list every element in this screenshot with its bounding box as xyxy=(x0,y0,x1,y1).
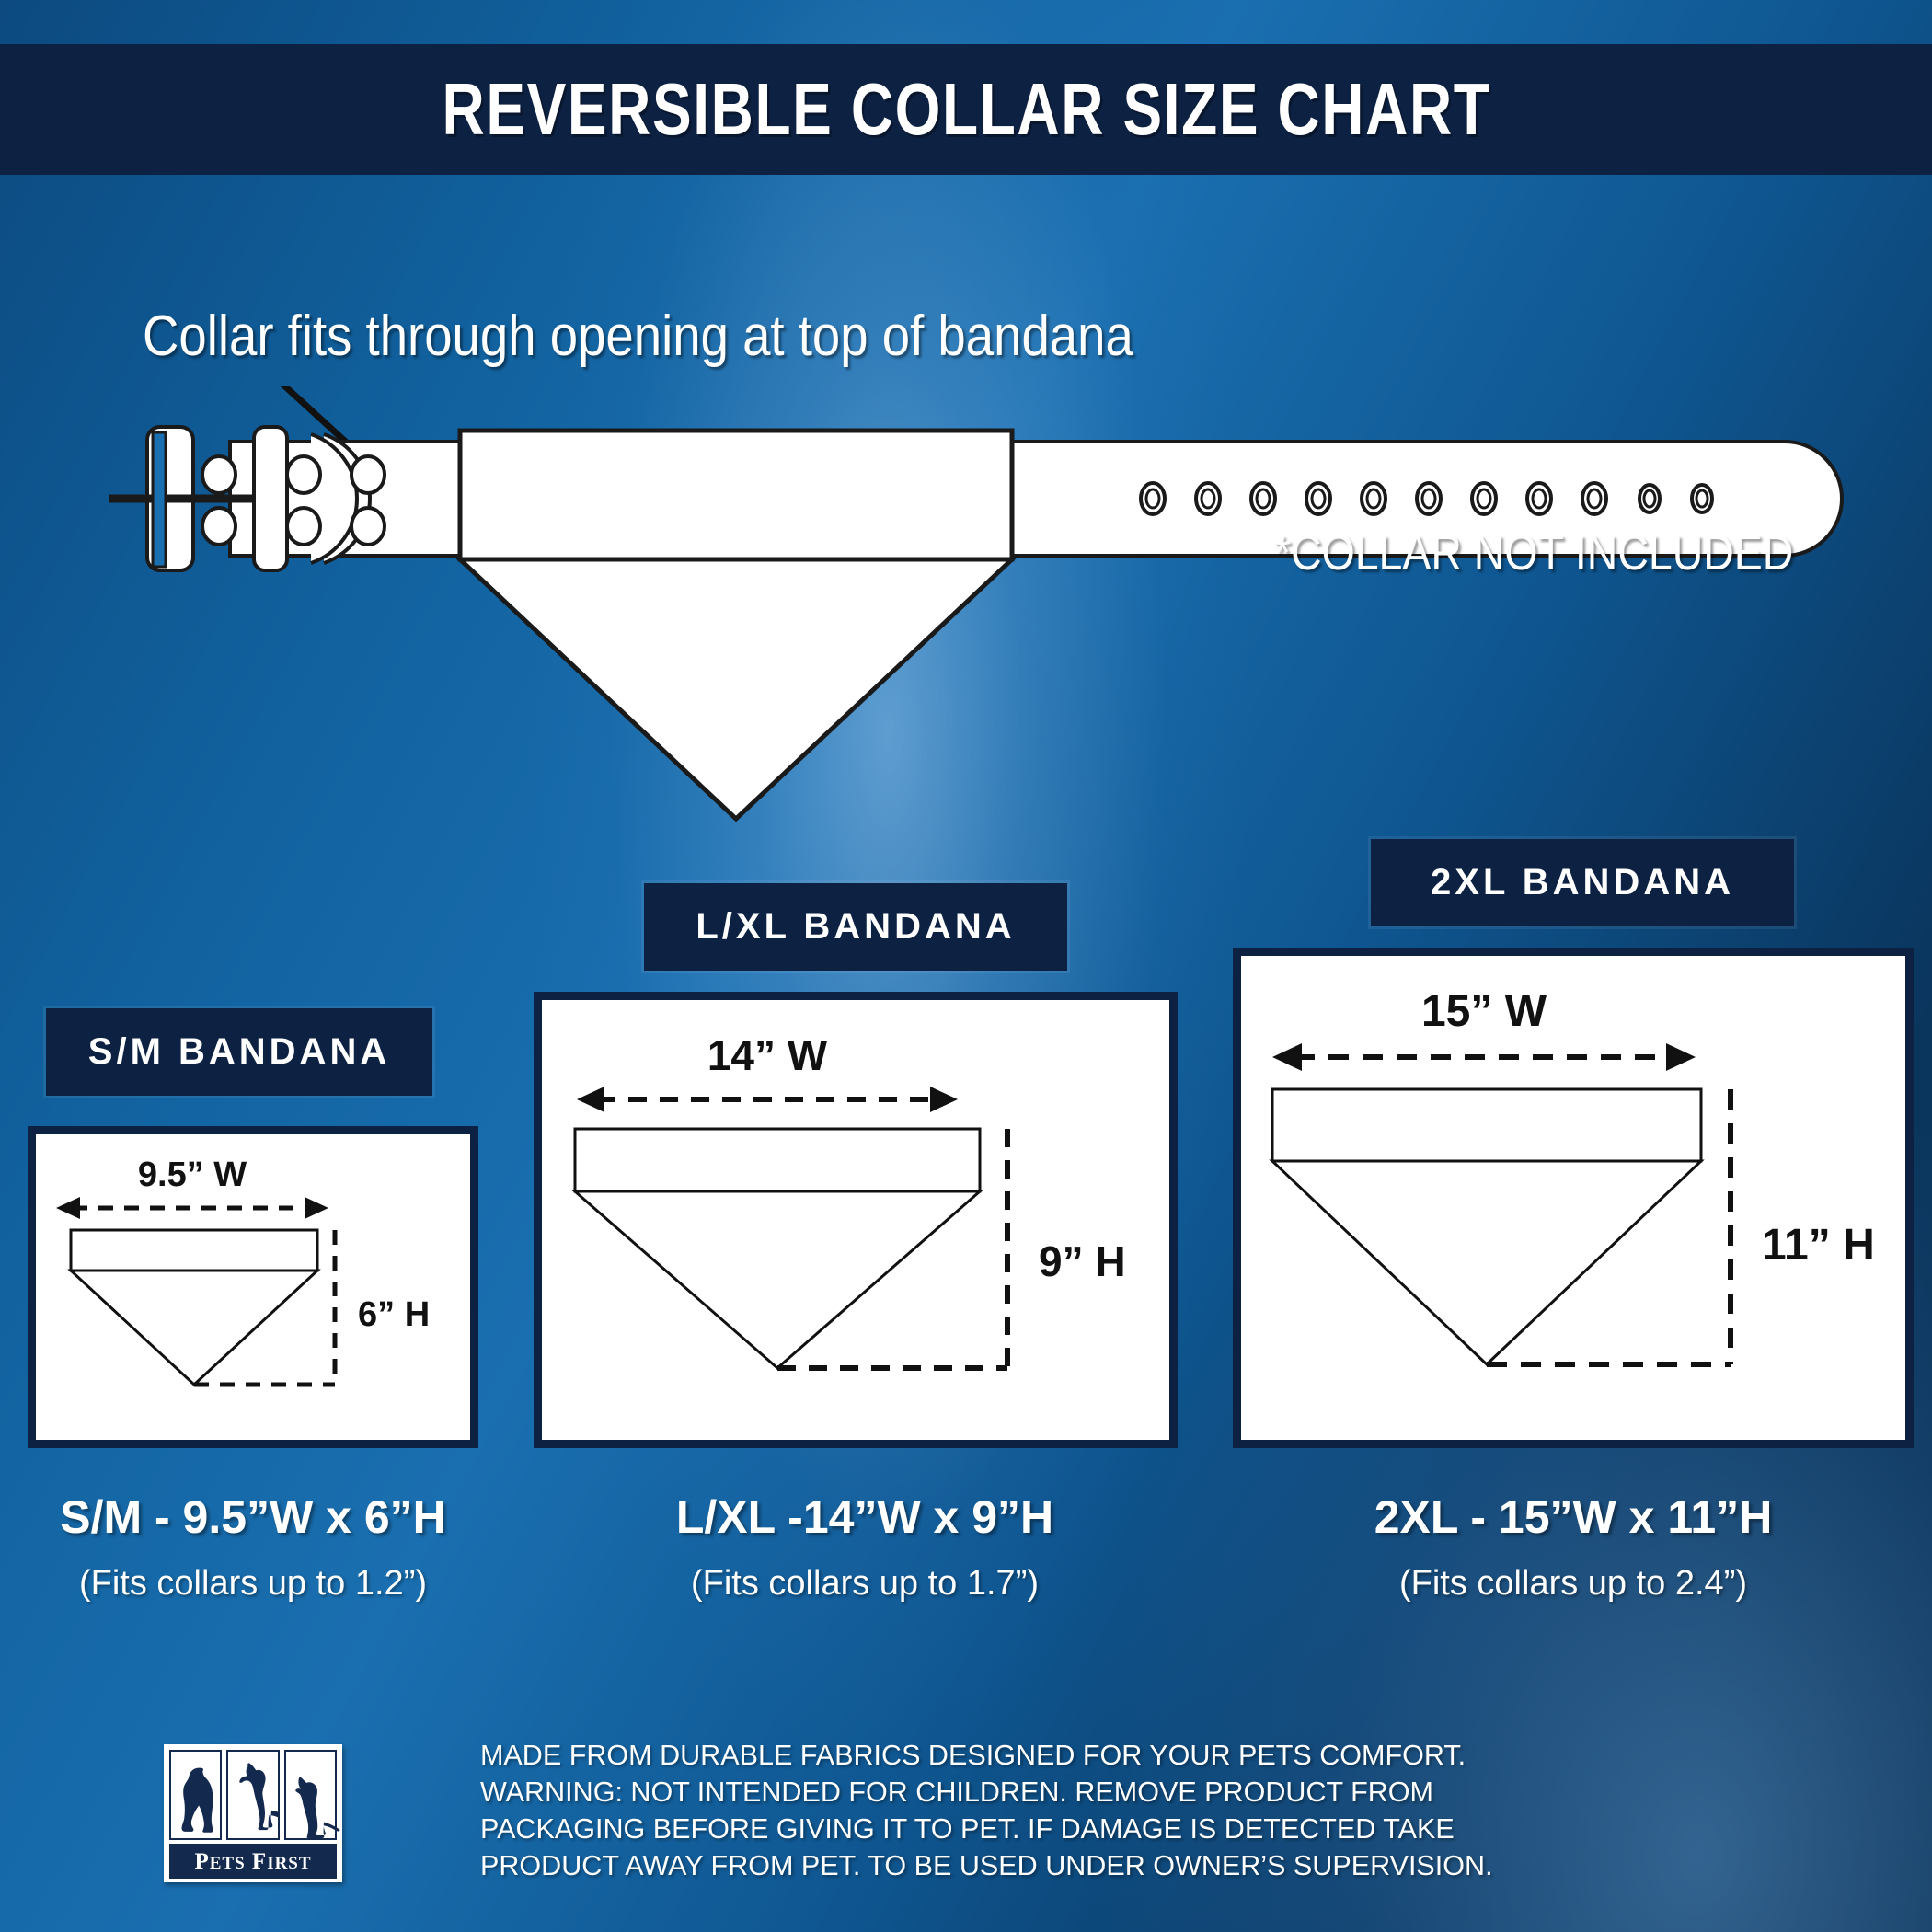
xxl-width-dimension xyxy=(1272,1043,1696,1071)
collar-not-included-note: *COLLAR NOT INCLUDED xyxy=(1274,524,1793,581)
pets-first-logo: PETS FIRST xyxy=(164,1744,342,1882)
sm-diagram: 9.5” W 6” H xyxy=(36,1134,470,1440)
subcaption-2xl: (Fits collars up to 2.4”) xyxy=(1242,1564,1904,1604)
page-title: REVERSIBLE COLLAR SIZE CHART xyxy=(442,67,1490,152)
lxl-sleeve xyxy=(575,1129,980,1191)
sm-width-dimension xyxy=(56,1197,328,1219)
sm-triangle xyxy=(71,1271,317,1385)
caption-lxl: L/XL -14”W x 9”H xyxy=(552,1490,1178,1544)
badge-2xl-label: 2XL BANDANA xyxy=(1431,862,1734,903)
bandana-triangle xyxy=(460,559,1012,819)
xxl-diagram: 15” W 11” H xyxy=(1241,956,1905,1440)
caption-2xl: 2XL - 15”W x 11”H xyxy=(1242,1490,1904,1544)
collar-bandana-diagram xyxy=(0,386,1932,828)
badge-sm-label: S/M BANDANA xyxy=(88,1031,390,1073)
lxl-triangle xyxy=(575,1191,980,1368)
xxl-width-label: 15” W xyxy=(1421,987,1547,1036)
sm-height-label: 6” H xyxy=(358,1295,430,1334)
card-2xl: 15” W 11” H xyxy=(1233,948,1914,1448)
title-banner: REVERSIBLE COLLAR SIZE CHART xyxy=(0,44,1932,175)
badge-lxl-label: L/XL BANDANA xyxy=(696,906,1015,948)
sm-sleeve xyxy=(71,1230,317,1271)
lxl-height-label: 9” H xyxy=(1039,1237,1126,1285)
footer-line-4: PRODUCT AWAY FROM PET. TO BE USED UNDER … xyxy=(480,1847,1894,1884)
sm-width-label: 9.5” W xyxy=(138,1156,247,1194)
footer-line-2: WARNING: NOT INTENDED FOR CHILDREN. REMO… xyxy=(480,1774,1894,1811)
subcaption-lxl: (Fits collars up to 1.7”) xyxy=(552,1564,1178,1604)
lxl-width-label: 14” W xyxy=(707,1031,828,1079)
badge-lxl: L/XL BANDANA xyxy=(644,883,1067,971)
caption-sm: S/M - 9.5”W x 6”H xyxy=(18,1490,488,1544)
footer-line-3: PACKAGING BEFORE GIVING IT TO PET. IF DA… xyxy=(480,1811,1894,1847)
hero-illustration xyxy=(0,386,1932,828)
card-lxl: 14” W 9” H xyxy=(534,992,1178,1448)
lxl-width-dimension xyxy=(577,1087,958,1112)
xxl-height-label: 11” H xyxy=(1762,1221,1875,1270)
dog-silhouette-3-icon xyxy=(284,1750,337,1840)
bandana-sleeve xyxy=(460,431,1012,559)
logo-dog-panels xyxy=(169,1750,337,1840)
card-sm: 9.5” W 6” H xyxy=(28,1126,478,1448)
size-chart-page: REVERSIBLE COLLAR SIZE CHART Collar fits… xyxy=(0,0,1932,1932)
subcaption-sm: (Fits collars up to 1.2”) xyxy=(18,1564,488,1604)
badge-sm: S/M BANDANA xyxy=(46,1008,432,1096)
dog-silhouette-2-icon xyxy=(226,1750,279,1840)
logo-wordmark: PETS FIRST xyxy=(169,1844,337,1879)
badge-2xl: 2XL BANDANA xyxy=(1371,839,1794,926)
dog-silhouette-1-icon xyxy=(169,1750,222,1840)
xxl-triangle xyxy=(1272,1161,1701,1364)
footer-line-1: MADE FROM DURABLE FABRICS DESIGNED FOR Y… xyxy=(480,1737,1894,1774)
xxl-sleeve xyxy=(1272,1089,1701,1161)
lxl-diagram: 14” W 9” H xyxy=(542,1000,1169,1440)
hero-headline: Collar fits through opening at top of ba… xyxy=(143,304,1133,369)
logo-wordmark-text: PETS FIRST xyxy=(194,1850,311,1873)
footer-disclaimer: MADE FROM DURABLE FABRICS DESIGNED FOR Y… xyxy=(480,1737,1915,1884)
